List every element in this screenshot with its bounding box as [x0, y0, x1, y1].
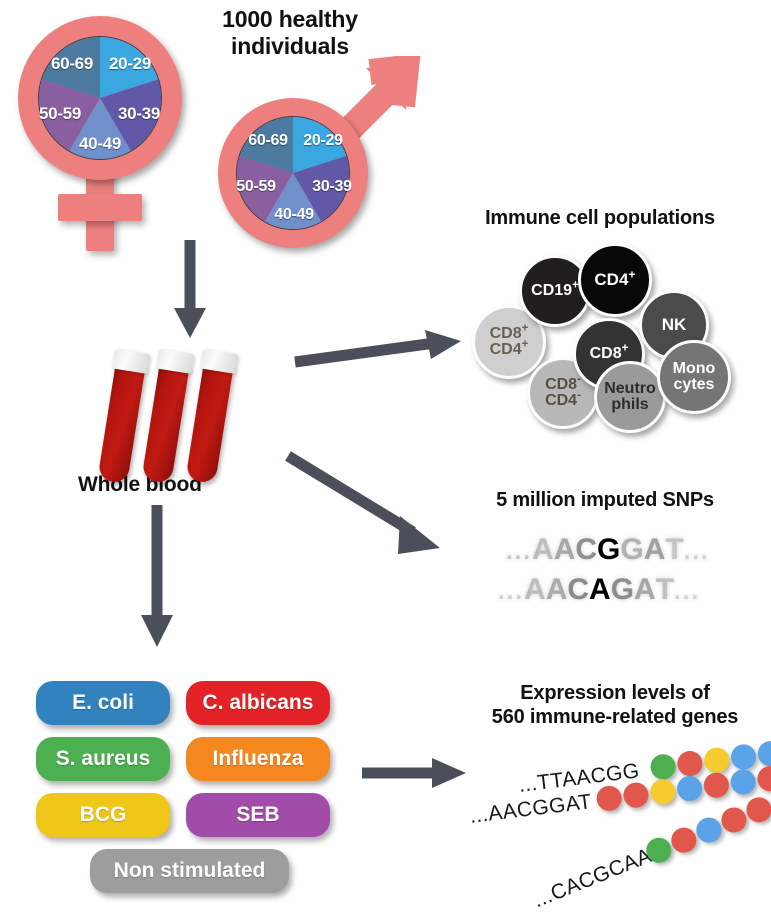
gene-bead — [730, 743, 758, 771]
arrow-blood-to-immune — [295, 330, 465, 372]
immune-cell-monocytes: Monocytes — [657, 340, 731, 414]
gene-bead — [649, 778, 677, 806]
stimulus-label: BCG — [80, 803, 127, 827]
blood-tube-body — [141, 363, 189, 484]
snp-letter: A — [524, 573, 546, 607]
blood-tube-body — [97, 363, 145, 484]
snp-letter: A — [532, 533, 554, 567]
blood-tube-body — [185, 363, 233, 484]
gene-bead — [703, 746, 731, 774]
pie-label-30-39: 30-39 — [312, 178, 351, 196]
gene-bead — [649, 753, 677, 781]
stimulus-label: SEB — [236, 803, 279, 827]
immune-cell-label: NK — [662, 316, 687, 333]
immune-cell-label: CD4+ — [594, 271, 635, 288]
stimulus-box-bcg[interactable]: BCG — [36, 793, 170, 837]
snp-letter: A — [644, 533, 666, 567]
gene-bead — [676, 750, 704, 778]
snp-letter: A — [589, 573, 611, 607]
stimulus-box-s-aureus[interactable]: S. aureus — [36, 737, 170, 781]
snp-letter: ... — [674, 578, 700, 606]
pie-label-40-49: 40-49 — [274, 206, 313, 224]
immune-cell-label: CD8+CD4+ — [490, 326, 529, 359]
arrow-blood-to-stimuli — [135, 505, 179, 650]
stimulus-label: C. albicans — [203, 691, 314, 715]
snp-letter: C — [567, 573, 589, 607]
immune-cell-label: CD8-CD4- — [545, 377, 581, 410]
snp-letter: G — [620, 533, 643, 567]
snp-allele-a: ...AACAGAT... — [498, 573, 700, 607]
immune-cell-neutrophils: Neutrophils — [594, 361, 666, 433]
snp-letter: G — [597, 533, 620, 567]
male-symbol: 20-29 30-39 40-49 50-59 60-69 — [208, 62, 418, 252]
stimulus-label: S. aureus — [56, 747, 151, 771]
pie-label-60-69: 60-69 — [51, 54, 93, 74]
snp-letter: ... — [506, 538, 532, 566]
gene-bead — [729, 768, 757, 796]
gene-bead — [702, 771, 730, 799]
snp-letter: A — [634, 573, 656, 607]
stimulus-label: E. coli — [72, 691, 134, 715]
snp-letter: T — [656, 573, 674, 607]
pie-label-20-29: 20-29 — [303, 132, 342, 150]
gene-bead — [595, 784, 623, 812]
stimulus-label: Influenza — [212, 747, 303, 771]
snps-title: 5 million imputed SNPs — [455, 489, 755, 513]
immune-cell-label: CD8+ — [590, 346, 629, 362]
snp-allele-g: ...AACGGAT... — [506, 533, 710, 567]
gene-bead — [622, 781, 650, 809]
stimulus-box-non-stimulated[interactable]: Non stimulated — [90, 849, 289, 893]
stimulus-label: Non stimulated — [114, 859, 266, 883]
pie-label-20-29: 20-29 — [109, 54, 151, 74]
female-symbol-crossbar — [58, 194, 142, 221]
immune-cell-label: CD19+ — [531, 283, 579, 299]
stimulus-box-c-albicans[interactable]: C. albicans — [186, 681, 330, 725]
stimulus-box-e-coli[interactable]: E. coli — [36, 681, 170, 725]
arrow-stimuli-to-expression — [362, 756, 472, 790]
snp-letter: ... — [684, 538, 710, 566]
pie-label-50-59: 50-59 — [39, 104, 81, 124]
strand-sequence-text: ...CACGCAA — [530, 844, 655, 913]
immune-cell-cd4p: CD4+ — [578, 243, 652, 317]
immune-cell-label: Monocytes — [673, 361, 716, 394]
snp-letter: A — [546, 573, 568, 607]
expression-title: Expression levels of 560 immune-related … — [465, 682, 765, 729]
pie-label-60-69: 60-69 — [248, 132, 287, 150]
snp-letter: A — [554, 533, 576, 567]
snp-letter: C — [575, 533, 597, 567]
pie-label-50-59: 50-59 — [236, 178, 275, 196]
stimulus-box-seb[interactable]: SEB — [186, 793, 330, 837]
gene-bead — [676, 775, 704, 803]
snp-letter: G — [611, 573, 634, 607]
strand-sequence-text: ...AACGGAT — [468, 790, 593, 829]
pie-label-30-39: 30-39 — [118, 104, 160, 124]
female-symbol: 20-29 30-39 40-49 50-59 60-69 — [18, 16, 198, 251]
gene-bead — [756, 765, 771, 793]
snp-letter: T — [665, 533, 683, 567]
cohort-title: 1000 healthy individuals — [175, 6, 405, 60]
stimulus-box-influenza[interactable]: Influenza — [186, 737, 330, 781]
arrow-blood-to-snps — [288, 456, 463, 561]
gene-bead — [756, 740, 771, 768]
snp-letter: ... — [498, 578, 524, 606]
immune-populations-title: Immune cell populations — [440, 207, 760, 231]
blood-tubes-group — [112, 345, 272, 475]
immune-cell-label: Neutrophils — [604, 381, 656, 414]
pie-label-40-49: 40-49 — [79, 134, 121, 154]
arrow-cohort-to-blood — [168, 240, 212, 340]
